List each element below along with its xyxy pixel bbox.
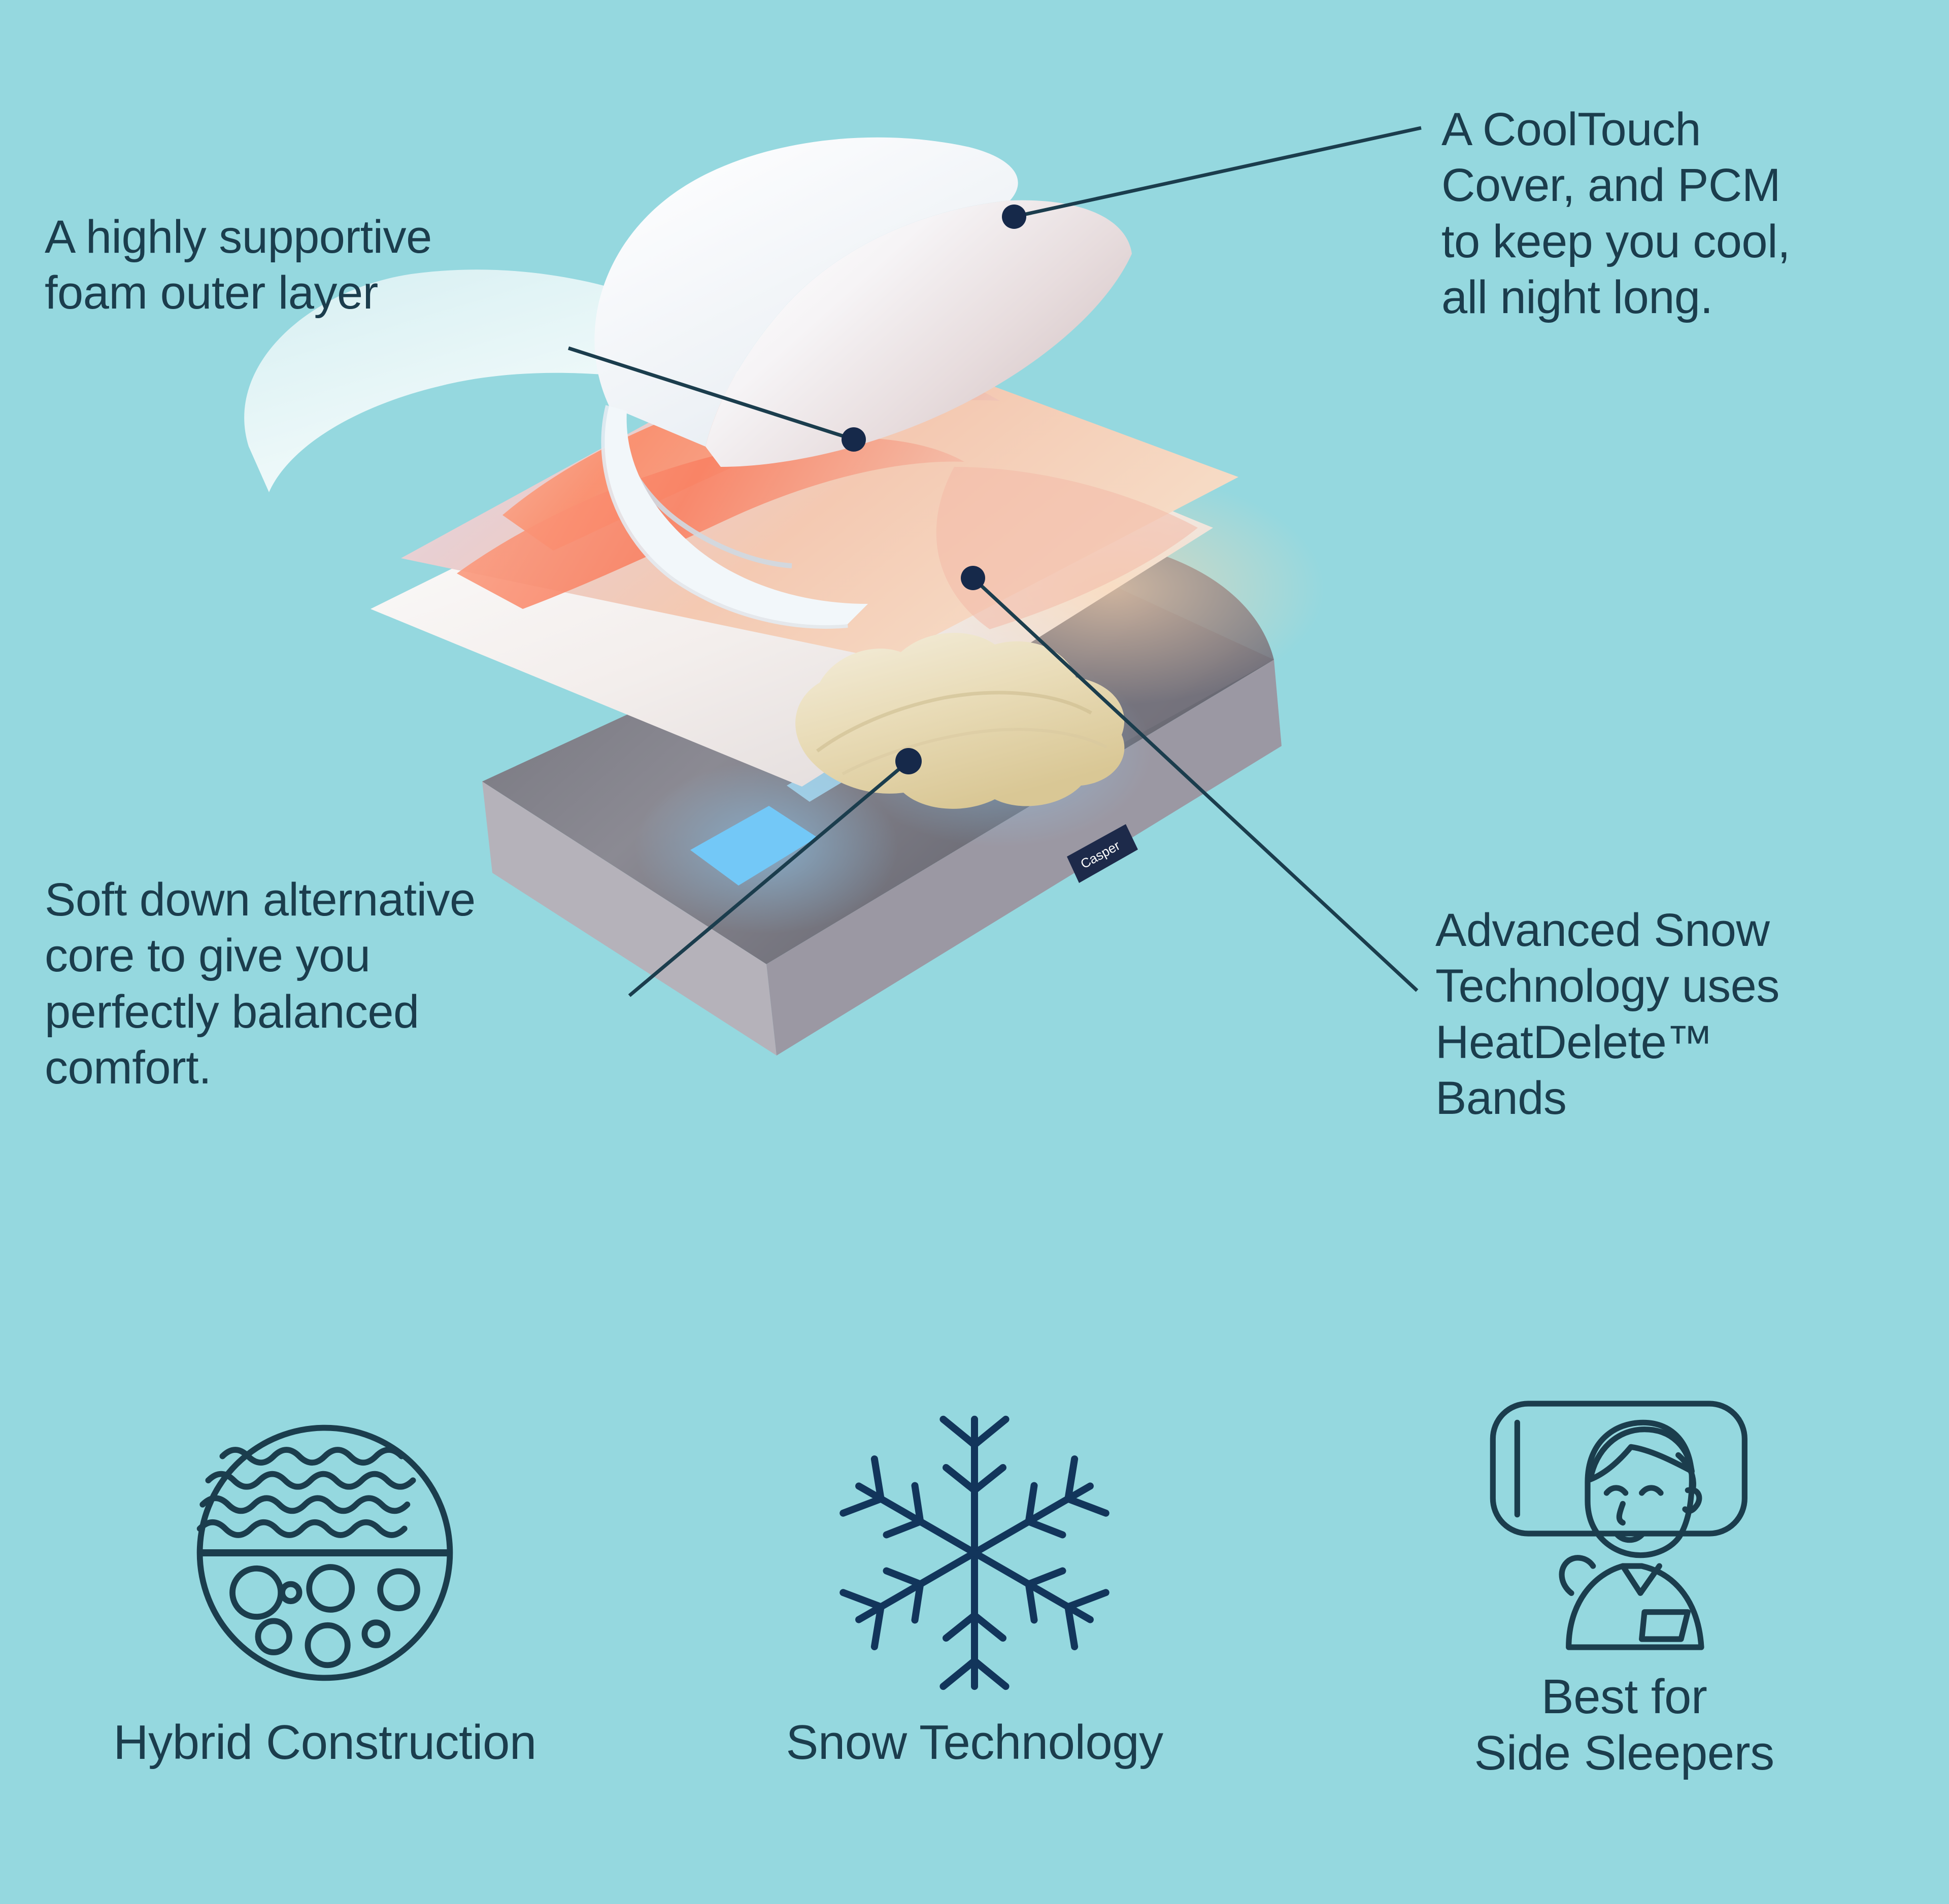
feature-caption: Hybrid Construction: [113, 1714, 536, 1771]
snowflake-icon: [832, 1401, 1117, 1705]
callout-advanced-snow-technology: Advanced Snow Technology uses HeatDelete…: [1435, 902, 1943, 1127]
feature-snow-technology: Snow Technology: [695, 1401, 1254, 1771]
feature-caption: Snow Technology: [786, 1714, 1163, 1771]
feature-row: Hybrid Construction: [0, 1401, 1949, 1857]
infographic-root: Casper: [0, 0, 1949, 1904]
callout-down-alternative-core: Soft down alternative core to give you p…: [45, 872, 704, 1096]
callout-foam-outer-layer: A highly supportive foam outer layer: [45, 209, 679, 321]
callout-cooltouch-cover: A CoolTouch Cover, and PCM to keep you c…: [1441, 101, 1929, 326]
feature-hybrid-construction: Hybrid Construction: [46, 1401, 604, 1771]
side-sleeper-icon: [1482, 1396, 1766, 1659]
feature-side-sleepers: Best for Side Sleepers: [1345, 1396, 1903, 1782]
feature-caption: Best for Side Sleepers: [1474, 1669, 1774, 1782]
hybrid-construction-icon: [183, 1401, 467, 1705]
